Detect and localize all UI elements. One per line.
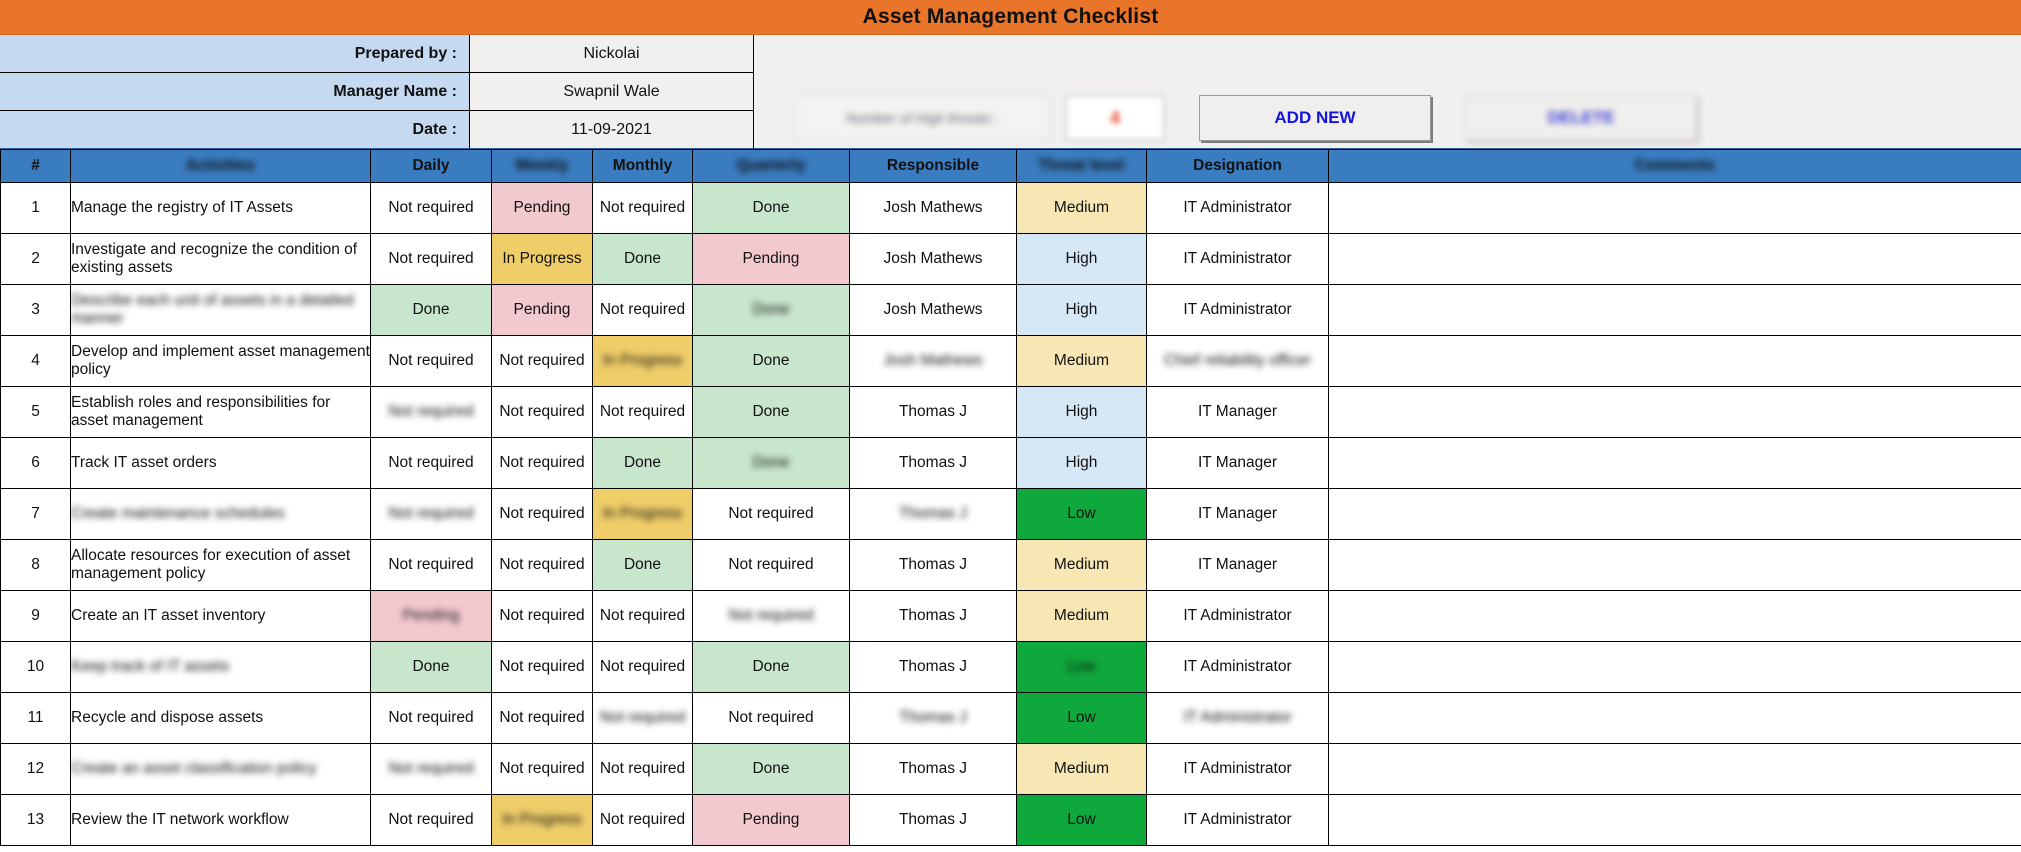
quarterly-status-cell-text: Done [752, 301, 789, 319]
activity-cell-text: Develop and implement asset management p… [71, 343, 370, 378]
activity-cell-text: Create an asset classification policy [71, 760, 317, 778]
info-row-prepared-by: Prepared by : Nickolai [0, 35, 753, 73]
designation-cell-text: IT Administrator [1183, 199, 1291, 216]
monthly-status-cell[interactable]: Done [593, 438, 693, 489]
quarterly-status-cell-text: Done [752, 352, 789, 369]
row-index[interactable]: 5 [1, 387, 71, 438]
comments-cell[interactable] [1329, 591, 2021, 642]
responsible-cell[interactable]: Thomas J [850, 744, 1017, 795]
table-row[interactable]: 13Review the IT network workflowNot requ… [1, 795, 2021, 846]
activity-cell-text: Manage the registry of IT Assets [71, 199, 293, 216]
table-row[interactable]: 11Recycle and dispose assetsNot required… [1, 693, 2021, 744]
column-header-label: Weekly [515, 157, 568, 175]
activity-cell-text: Describe each unit of assets in a detail… [71, 292, 370, 329]
threat-level-cell-text: Low [1067, 505, 1095, 522]
comments-cell[interactable] [1329, 540, 2021, 591]
designation-cell-text: IT Administrator [1183, 250, 1291, 267]
weekly-status-cell-text: Not required [499, 403, 584, 420]
column-header-[interactable]: # [1, 150, 71, 183]
threat-level-cell-text: High [1066, 454, 1098, 471]
table-row[interactable]: 6Track IT asset ordersNot requiredNot re… [1, 438, 2021, 489]
activity-cell[interactable]: Create an IT asset inventory [71, 591, 371, 642]
high-threat-counter: Number of High threats : 4 [794, 95, 1165, 141]
comments-cell[interactable] [1329, 285, 2021, 336]
monthly-status-cell-text: In Progress [603, 352, 682, 370]
activity-cell[interactable]: Investigate and recognize the condition … [71, 234, 371, 285]
column-header-label: Quarterly [737, 157, 806, 175]
activity-cell-text: Create maintenance schedules [71, 505, 285, 523]
table-body: 1Manage the registry of IT AssetsNot req… [1, 183, 2021, 846]
weekly-status-cell-text: Not required [499, 709, 584, 726]
threat-level-cell[interactable]: High [1017, 234, 1147, 285]
monthly-status-cell-text: Not required [600, 811, 685, 828]
threat-level-cell-text: High [1066, 301, 1098, 318]
daily-status-cell[interactable]: Not required [371, 744, 492, 795]
daily-status-cell[interactable]: Not required [371, 795, 492, 846]
comments-cell[interactable] [1329, 744, 2021, 795]
row-index[interactable]: 12 [1, 744, 71, 795]
weekly-status-cell[interactable]: Not required [492, 642, 593, 693]
activity-cell[interactable]: Recycle and dispose assets [71, 693, 371, 744]
quarterly-status-cell[interactable]: Not required [693, 489, 850, 540]
activity-cell[interactable]: Review the IT network workflow [71, 795, 371, 846]
responsible-cell-text: Thomas J [899, 658, 967, 675]
responsible-cell[interactable]: Thomas J [850, 693, 1017, 744]
row-index-text: 7 [31, 505, 40, 522]
column-header-label: Comments [1635, 157, 1715, 175]
column-header-activities[interactable]: Activities [71, 150, 371, 183]
weekly-status-cell-text: Not required [499, 760, 584, 777]
spreadsheet-root: Asset Management Checklist Prepared by :… [0, 0, 2021, 852]
comments-cell[interactable] [1329, 489, 2021, 540]
threat-level-cell-text: Low [1067, 811, 1095, 828]
quarterly-status-cell-text: Done [752, 760, 789, 777]
weekly-status-cell-text: Not required [499, 352, 584, 369]
controls-panel: Number of High threats : 4 ADD NEW DELET… [754, 35, 2021, 149]
daily-status-cell-text: Not required [388, 403, 473, 421]
quarterly-status-cell[interactable]: Not required [693, 540, 850, 591]
responsible-cell[interactable]: Thomas J [850, 438, 1017, 489]
threat-level-cell[interactable]: High [1017, 387, 1147, 438]
quarterly-status-cell-text: Not required [728, 556, 813, 573]
row-index[interactable]: 10 [1, 642, 71, 693]
weekly-status-cell[interactable]: Not required [492, 387, 593, 438]
responsible-cell-text: Thomas J [899, 811, 967, 828]
weekly-status-cell[interactable]: In Progress [492, 234, 593, 285]
row-index[interactable]: 8 [1, 540, 71, 591]
monthly-status-cell[interactable]: Done [593, 234, 693, 285]
daily-status-cell-text: Not required [388, 811, 473, 828]
column-header-label: Designation [1193, 157, 1282, 174]
quarterly-status-cell-text: Pending [743, 811, 800, 828]
column-header-label: # [31, 157, 40, 174]
activity-cell[interactable]: Track IT asset orders [71, 438, 371, 489]
monthly-status-cell-text: Not required [600, 607, 685, 624]
designation-cell-text: IT Manager [1198, 505, 1277, 522]
designation-cell[interactable]: Chief reliability officer [1147, 336, 1329, 387]
table-row[interactable]: 2Investigate and recognize the condition… [1, 234, 2021, 285]
activity-cell[interactable]: Develop and implement asset management p… [71, 336, 371, 387]
designation-cell-text: IT Administrator [1183, 607, 1291, 624]
threat-level-cell[interactable]: High [1017, 285, 1147, 336]
quarterly-status-cell[interactable]: Not required [693, 591, 850, 642]
responsible-cell[interactable]: Thomas J [850, 795, 1017, 846]
row-index[interactable]: 3 [1, 285, 71, 336]
weekly-status-cell[interactable]: Not required [492, 336, 593, 387]
column-header-weekly[interactable]: Weekly [492, 150, 593, 183]
threat-level-cell[interactable]: High [1017, 438, 1147, 489]
row-index-text: 5 [31, 403, 40, 420]
threat-level-cell-text: Low [1067, 658, 1095, 676]
quarterly-status-cell[interactable]: Not required [693, 693, 850, 744]
daily-status-cell-text: Done [412, 658, 449, 675]
weekly-status-cell-text: Not required [499, 658, 584, 675]
responsible-cell-text: Thomas J [899, 556, 967, 573]
info-fields: Prepared by : Nickolai Manager Name : Sw… [0, 35, 754, 149]
weekly-status-cell[interactable]: Not required [492, 744, 593, 795]
responsible-cell[interactable]: Thomas J [850, 642, 1017, 693]
monthly-status-cell[interactable]: In Progress [593, 336, 693, 387]
weekly-status-cell-text: Not required [499, 607, 584, 624]
quarterly-status-cell[interactable]: Pending [693, 795, 850, 846]
weekly-status-cell-text: Not required [499, 556, 584, 573]
designation-cell-text: IT Manager [1198, 556, 1277, 573]
comments-cell[interactable] [1329, 234, 2021, 285]
threat-level-cell-text: Medium [1054, 760, 1109, 777]
column-header-daily[interactable]: Daily [371, 150, 492, 183]
daily-status-cell-text: Not required [388, 505, 473, 523]
column-header-responsible[interactable]: Responsible [850, 150, 1017, 183]
weekly-status-cell[interactable]: Not required [492, 540, 593, 591]
designation-cell[interactable]: IT Manager [1147, 387, 1329, 438]
daily-status-cell-text: Not required [388, 352, 473, 369]
weekly-status-cell-text: Not required [499, 505, 584, 522]
row-index-text: 8 [31, 556, 40, 573]
monthly-status-cell[interactable]: Not required [593, 183, 693, 234]
weekly-status-cell[interactable]: Pending [492, 183, 593, 234]
table-row[interactable]: 1Manage the registry of IT AssetsNot req… [1, 183, 2021, 234]
table-row[interactable]: 8Allocate resources for execution of ass… [1, 540, 2021, 591]
threat-level-cell-text: Low [1067, 709, 1095, 726]
daily-status-cell[interactable]: Not required [371, 336, 492, 387]
designation-cell[interactable]: IT Administrator [1147, 795, 1329, 846]
daily-status-cell-text: Not required [388, 760, 473, 778]
controls-row: Number of High threats : 4 ADD NEW DELET… [794, 95, 1697, 141]
monthly-status-cell-text: Not required [600, 199, 685, 216]
monthly-status-cell[interactable]: Not required [593, 693, 693, 744]
comments-cell[interactable] [1329, 183, 2021, 234]
threat-level-cell-text: Medium [1054, 352, 1109, 369]
comments-cell[interactable] [1329, 795, 2021, 846]
quarterly-status-cell[interactable]: Done [693, 285, 850, 336]
info-row-manager-name: Manager Name : Swapnil Wale [0, 73, 753, 111]
weekly-status-cell-text: Pending [514, 199, 571, 216]
responsible-cell-text: Thomas J [899, 403, 967, 420]
comments-cell[interactable] [1329, 693, 2021, 744]
column-header-label: Threat level [1038, 157, 1124, 175]
threat-level-cell[interactable]: Low [1017, 642, 1147, 693]
threat-level-cell[interactable]: Medium [1017, 540, 1147, 591]
daily-status-cell-text: Not required [388, 709, 473, 726]
column-header-designation[interactable]: Designation [1147, 150, 1329, 183]
threat-level-cell[interactable]: Low [1017, 693, 1147, 744]
info-section: Prepared by : Nickolai Manager Name : Sw… [0, 35, 2021, 149]
page-title: Asset Management Checklist [863, 5, 1159, 29]
daily-status-cell[interactable]: Not required [371, 234, 492, 285]
high-threat-label: Number of High threats : [794, 96, 1051, 140]
quarterly-status-cell-text: Done [752, 658, 789, 675]
daily-status-cell-text: Not required [388, 250, 473, 267]
weekly-status-cell-text: Pending [514, 301, 571, 318]
activity-cell-text: Allocate resources for execution of asse… [71, 547, 350, 582]
monthly-status-cell-text: Done [624, 454, 661, 471]
activity-cell[interactable]: Create maintenance schedules [71, 489, 371, 540]
monthly-status-cell-text: Not required [600, 709, 685, 727]
monthly-status-cell[interactable]: Not required [593, 744, 693, 795]
threat-level-cell[interactable]: Medium [1017, 336, 1147, 387]
daily-status-cell-text: Not required [388, 556, 473, 573]
table-row[interactable]: 4Develop and implement asset management … [1, 336, 2021, 387]
designation-cell-text: IT Administrator [1183, 760, 1291, 777]
row-index[interactable]: 13 [1, 795, 71, 846]
row-index[interactable]: 7 [1, 489, 71, 540]
date-label: Date : [0, 111, 470, 148]
title-bar: Asset Management Checklist [0, 0, 2021, 35]
daily-status-cell[interactable]: Pending [371, 591, 492, 642]
table-row[interactable]: 10Keep track of IT assetsDoneNot require… [1, 642, 2021, 693]
activity-cell-text: Establish roles and responsibilities for… [71, 394, 330, 429]
responsible-cell[interactable]: Thomas J [850, 591, 1017, 642]
prepared-by-label: Prepared by : [0, 35, 470, 72]
activity-cell[interactable]: Describe each unit of assets in a detail… [71, 285, 371, 336]
weekly-status-cell[interactable]: Not required [492, 591, 593, 642]
row-index-text: 10 [27, 658, 44, 675]
responsible-cell[interactable]: Thomas J [850, 387, 1017, 438]
activity-cell[interactable]: Create an asset classification policy [71, 744, 371, 795]
responsible-cell-text: Thomas J [899, 607, 967, 624]
monthly-status-cell[interactable]: Not required [593, 387, 693, 438]
daily-status-cell[interactable]: Not required [371, 438, 492, 489]
quarterly-status-cell-text: Not required [728, 607, 813, 625]
monthly-status-cell-text: Not required [600, 658, 685, 675]
activity-cell[interactable]: Allocate resources for execution of asse… [71, 540, 371, 591]
quarterly-status-cell[interactable]: Done [693, 336, 850, 387]
delete-button[interactable]: DELETE [1465, 95, 1697, 141]
activity-cell-text: Track IT asset orders [71, 454, 217, 471]
daily-status-cell[interactable]: Not required [371, 387, 492, 438]
responsible-cell-text: Thomas J [899, 454, 967, 471]
designation-cell-text: Chief reliability officer [1164, 352, 1311, 370]
quarterly-status-cell[interactable]: Done [693, 183, 850, 234]
table-row[interactable]: 12Create an asset classification policyN… [1, 744, 2021, 795]
row-index-text: 6 [31, 454, 40, 471]
threat-level-cell[interactable]: Medium [1017, 183, 1147, 234]
weekly-status-cell[interactable]: Not required [492, 438, 593, 489]
responsible-cell-text: Thomas J [899, 760, 967, 777]
quarterly-status-cell[interactable]: Pending [693, 234, 850, 285]
weekly-status-cell-text: In Progress [502, 250, 581, 267]
daily-status-cell-text: Not required [388, 454, 473, 471]
column-header-comments[interactable]: Comments [1329, 150, 2021, 183]
daily-status-cell[interactable]: Done [371, 642, 492, 693]
column-header-label: Monthly [613, 157, 672, 174]
daily-status-cell-text: Not required [388, 199, 473, 216]
comments-cell[interactable] [1329, 387, 2021, 438]
row-index-text: 12 [27, 760, 44, 777]
activity-cell-text: Investigate and recognize the condition … [71, 241, 357, 276]
row-index-text: 13 [27, 811, 44, 828]
monthly-status-cell[interactable]: Not required [593, 642, 693, 693]
designation-cell-text: IT Manager [1198, 454, 1277, 471]
activity-cell-text: Review the IT network workflow [71, 811, 289, 828]
quarterly-status-cell[interactable]: Done [693, 642, 850, 693]
high-threat-value: 4 [1065, 95, 1165, 141]
quarterly-status-cell[interactable]: Done [693, 438, 850, 489]
column-header-threat-level[interactable]: Threat level [1017, 150, 1147, 183]
prepared-by-value[interactable]: Nickolai [470, 35, 753, 72]
activity-cell[interactable]: Manage the registry of IT Assets [71, 183, 371, 234]
activity-cell[interactable]: Establish roles and responsibilities for… [71, 387, 371, 438]
weekly-status-cell[interactable]: In Progress [492, 795, 593, 846]
column-header-label: Activities [186, 157, 255, 175]
row-index[interactable]: 2 [1, 234, 71, 285]
responsible-cell-text: Thomas J [899, 505, 967, 523]
designation-cell[interactable]: IT Manager [1147, 540, 1329, 591]
monthly-status-cell-text: In Progress [603, 505, 682, 523]
weekly-status-cell[interactable]: Pending [492, 285, 593, 336]
activity-cell-text: Keep track of IT assets [71, 658, 229, 676]
designation-cell-text: IT Manager [1198, 403, 1277, 420]
date-value[interactable]: 11-09-2021 [470, 111, 753, 148]
responsible-cell-text: Josh Mathews [883, 301, 982, 318]
table-row[interactable]: 5Establish roles and responsibilities fo… [1, 387, 2021, 438]
monthly-status-cell[interactable]: Not required [593, 285, 693, 336]
column-header-quarterly[interactable]: Quarterly [693, 150, 850, 183]
quarterly-status-cell[interactable]: Done [693, 387, 850, 438]
designation-cell[interactable]: IT Manager [1147, 438, 1329, 489]
manager-name-label: Manager Name : [0, 73, 470, 110]
quarterly-status-cell-text: Done [752, 454, 789, 472]
threat-level-cell[interactable]: Medium [1017, 591, 1147, 642]
weekly-status-cell[interactable]: Not required [492, 489, 593, 540]
quarterly-status-cell-text: Done [752, 199, 789, 216]
comments-cell[interactable] [1329, 336, 2021, 387]
responsible-cell[interactable]: Josh Mathews [850, 336, 1017, 387]
activity-cell-text: Create an IT asset inventory [71, 607, 265, 624]
row-index[interactable]: 6 [1, 438, 71, 489]
row-index-text: 1 [31, 199, 40, 216]
weekly-status-cell-text: Not required [499, 454, 584, 471]
table-row[interactable]: 9Create an IT asset inventoryPendingNot … [1, 591, 2021, 642]
activity-cell[interactable]: Keep track of IT assets [71, 642, 371, 693]
weekly-status-cell[interactable]: Not required [492, 693, 593, 744]
monthly-status-cell[interactable]: Not required [593, 795, 693, 846]
designation-cell[interactable]: IT Administrator [1147, 642, 1329, 693]
designation-cell[interactable]: IT Administrator [1147, 285, 1329, 336]
weekly-status-cell-text: In Progress [502, 811, 581, 829]
daily-status-cell-text: Done [412, 301, 449, 318]
responsible-cell[interactable]: Thomas J [850, 489, 1017, 540]
threat-level-cell-text: Medium [1054, 199, 1109, 216]
responsible-cell-text: Josh Mathews [883, 199, 982, 216]
designation-cell[interactable]: IT Manager [1147, 489, 1329, 540]
monthly-status-cell[interactable]: Done [593, 540, 693, 591]
row-index-text: 3 [31, 301, 40, 318]
row-index-text: 11 [27, 709, 43, 726]
comments-cell[interactable] [1329, 438, 2021, 489]
threat-level-cell-text: Medium [1054, 607, 1109, 624]
responsible-cell[interactable]: Josh Mathews [850, 285, 1017, 336]
add-new-button[interactable]: ADD NEW [1199, 95, 1431, 141]
responsible-cell[interactable]: Josh Mathews [850, 183, 1017, 234]
designation-cell-text: IT Administrator [1183, 709, 1291, 727]
designation-cell[interactable]: IT Administrator [1147, 234, 1329, 285]
designation-cell[interactable]: IT Administrator [1147, 183, 1329, 234]
responsible-cell-text: Josh Mathews [883, 352, 982, 370]
column-header-monthly[interactable]: Monthly [593, 150, 693, 183]
row-index[interactable]: 1 [1, 183, 71, 234]
column-header-label: Daily [412, 157, 449, 174]
row-index-text: 9 [31, 607, 40, 624]
daily-status-cell-text: Pending [403, 607, 460, 625]
threat-level-cell[interactable]: Medium [1017, 744, 1147, 795]
comments-cell[interactable] [1329, 642, 2021, 693]
responsible-cell-text: Thomas J [899, 709, 967, 727]
row-index-text: 2 [31, 250, 40, 267]
quarterly-status-cell-text: Not required [728, 505, 813, 522]
designation-cell[interactable]: IT Administrator [1147, 693, 1329, 744]
quarterly-status-cell-text: Pending [743, 250, 800, 267]
monthly-status-cell-text: Not required [600, 760, 685, 777]
threat-level-cell[interactable]: Low [1017, 489, 1147, 540]
monthly-status-cell[interactable]: Not required [593, 591, 693, 642]
designation-cell[interactable]: IT Administrator [1147, 591, 1329, 642]
row-index[interactable]: 9 [1, 591, 71, 642]
responsible-cell[interactable]: Thomas J [850, 540, 1017, 591]
monthly-status-cell-text: Not required [600, 301, 685, 318]
table-row[interactable]: 3Describe each unit of assets in a detai… [1, 285, 2021, 336]
daily-status-cell[interactable]: Done [371, 285, 492, 336]
monthly-status-cell-text: Done [624, 250, 661, 267]
threat-level-cell-text: High [1066, 250, 1098, 267]
table-header: #ActivitiesDailyWeeklyMonthlyQuarterlyRe… [1, 150, 2021, 183]
daily-status-cell[interactable]: Not required [371, 540, 492, 591]
row-index-text: 4 [31, 352, 40, 369]
responsible-cell[interactable]: Josh Mathews [850, 234, 1017, 285]
daily-status-cell[interactable]: Not required [371, 693, 492, 744]
checklist-table: #ActivitiesDailyWeeklyMonthlyQuarterlyRe… [0, 149, 2021, 846]
manager-name-value[interactable]: Swapnil Wale [470, 73, 753, 110]
designation-cell-text: IT Administrator [1183, 658, 1291, 675]
table-row[interactable]: 7Create maintenance schedulesNot require… [1, 489, 2021, 540]
threat-level-cell[interactable]: Low [1017, 795, 1147, 846]
activity-cell-text: Recycle and dispose assets [71, 709, 263, 726]
info-row-date: Date : 11-09-2021 [0, 111, 753, 149]
threat-level-cell-text: High [1066, 403, 1098, 420]
monthly-status-cell[interactable]: In Progress [593, 489, 693, 540]
quarterly-status-cell-text: Not required [728, 709, 813, 726]
designation-cell[interactable]: IT Administrator [1147, 744, 1329, 795]
daily-status-cell[interactable]: Not required [371, 489, 492, 540]
responsible-cell-text: Josh Mathews [883, 250, 982, 267]
daily-status-cell[interactable]: Not required [371, 183, 492, 234]
column-header-label: Responsible [887, 157, 979, 174]
row-index[interactable]: 4 [1, 336, 71, 387]
row-index[interactable]: 11 [1, 693, 71, 744]
quarterly-status-cell[interactable]: Done [693, 744, 850, 795]
threat-level-cell-text: Medium [1054, 556, 1109, 573]
monthly-status-cell-text: Not required [600, 403, 685, 420]
